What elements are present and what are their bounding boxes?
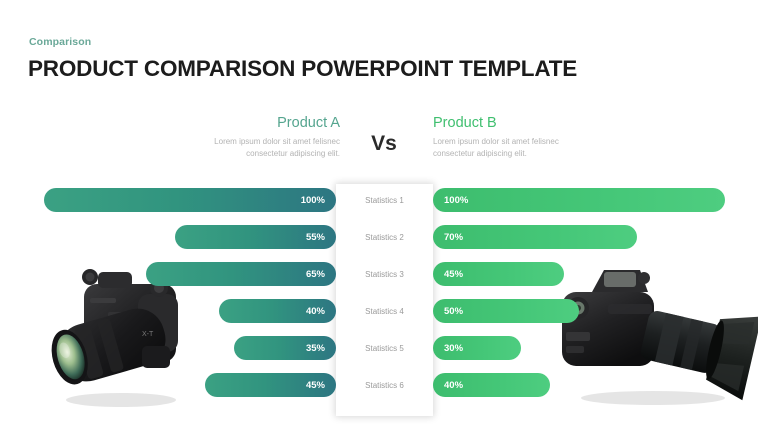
product-a-value-1: 100% <box>301 195 325 206</box>
product-b-bar-track-3: 45% <box>433 262 725 286</box>
statistics-label-3: Statistics 3 <box>336 262 433 286</box>
table-row: 65% Statistics 3 45% <box>0 262 768 299</box>
product-b-bar-5[interactable]: 30% <box>433 336 521 360</box>
slide-eyebrow: Comparison <box>29 36 91 48</box>
product-b-value-5: 30% <box>444 343 463 354</box>
statistics-label-2: Statistics 2 <box>336 225 433 249</box>
product-b-description: Lorem ipsum dolor sit amet felisnec cons… <box>433 136 583 159</box>
product-b-value-6: 40% <box>444 380 463 391</box>
product-b-value-2: 70% <box>444 232 463 243</box>
product-a-value-5: 35% <box>306 343 325 354</box>
product-b-bar-6[interactable]: 40% <box>433 373 550 397</box>
product-a-bar-3[interactable]: 65% <box>146 262 336 286</box>
product-a-bar-6[interactable]: 45% <box>205 373 336 397</box>
comparison-bar-rows: 100% Statistics 1 100% 55% Statistics 2 … <box>0 188 768 410</box>
product-b-value-4: 50% <box>444 306 463 317</box>
product-b-bar-3[interactable]: 45% <box>433 262 564 286</box>
product-a-name: Product A <box>190 114 340 132</box>
product-b-bar-track-4: 50% <box>433 299 725 323</box>
product-a-bar-1[interactable]: 100% <box>44 188 336 212</box>
product-a-value-4: 40% <box>306 306 325 317</box>
product-b-bar-track-2: 70% <box>433 225 725 249</box>
table-row: 40% Statistics 4 50% <box>0 299 768 336</box>
table-row: 55% Statistics 2 70% <box>0 225 768 262</box>
product-a-value-3: 65% <box>306 269 325 280</box>
product-b-bar-2[interactable]: 70% <box>433 225 637 249</box>
product-b-value-1: 100% <box>444 195 468 206</box>
statistics-label-1: Statistics 1 <box>336 188 433 212</box>
product-b-bar-track-1: 100% <box>433 188 725 212</box>
product-b-bar-track-5: 30% <box>433 336 725 360</box>
statistics-label-4: Statistics 4 <box>336 299 433 323</box>
product-b-header: Product B Lorem ipsum dolor sit amet fel… <box>433 114 583 159</box>
product-a-value-6: 45% <box>306 380 325 391</box>
product-a-bar-5[interactable]: 35% <box>234 336 336 360</box>
table-row: 100% Statistics 1 100% <box>0 188 768 225</box>
product-a-bar-2[interactable]: 55% <box>175 225 336 249</box>
product-a-bar-track-4: 40% <box>44 299 336 323</box>
product-a-bar-track-1: 100% <box>44 188 336 212</box>
statistics-label-5: Statistics 5 <box>336 336 433 360</box>
product-a-header: Product A Lorem ipsum dolor sit amet fel… <box>190 114 340 159</box>
product-a-value-2: 55% <box>306 232 325 243</box>
page-title: PRODUCT COMPARISON POWERPOINT TEMPLATE <box>28 56 577 82</box>
product-b-value-3: 45% <box>444 269 463 280</box>
statistics-label-6: Statistics 6 <box>336 373 433 397</box>
table-row: 35% Statistics 5 30% <box>0 336 768 373</box>
product-a-bar-track-3: 65% <box>44 262 336 286</box>
product-b-bar-track-6: 40% <box>433 373 725 397</box>
product-a-bar-4[interactable]: 40% <box>219 299 336 323</box>
product-a-bar-track-2: 55% <box>44 225 336 249</box>
product-a-bar-track-5: 35% <box>44 336 336 360</box>
product-a-description: Lorem ipsum dolor sit amet felisnec cons… <box>190 136 340 159</box>
product-b-bar-1[interactable]: 100% <box>433 188 725 212</box>
slide-canvas: Comparison PRODUCT COMPARISON POWERPOINT… <box>0 0 768 432</box>
vs-divider-label: Vs <box>352 132 416 156</box>
product-b-name: Product B <box>433 114 583 132</box>
product-b-bar-4[interactable]: 50% <box>433 299 579 323</box>
table-row: 45% Statistics 6 40% <box>0 373 768 410</box>
product-a-bar-track-6: 45% <box>44 373 336 397</box>
